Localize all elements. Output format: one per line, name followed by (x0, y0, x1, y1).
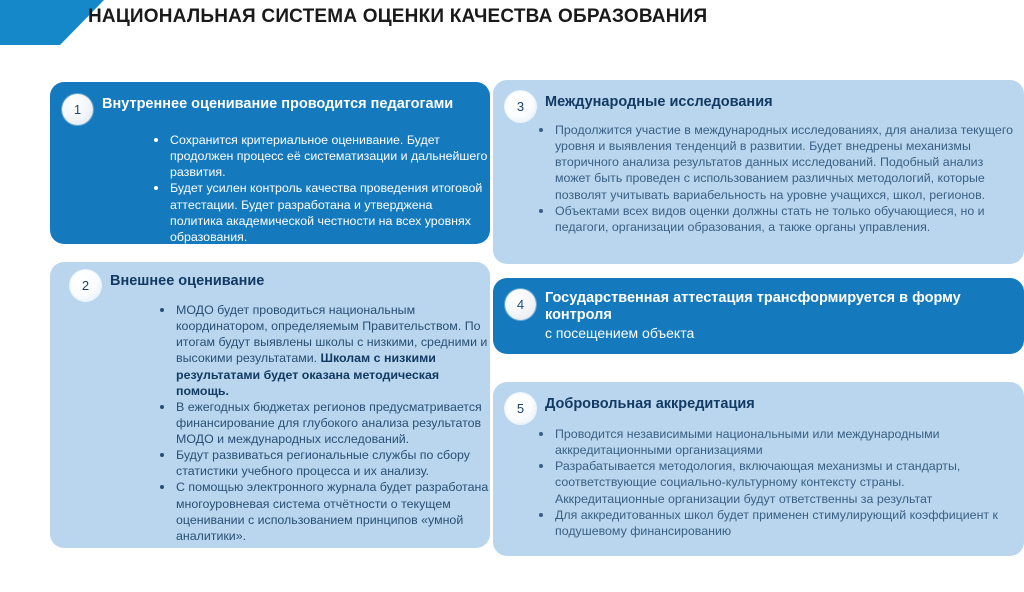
card-voluntary-accreditation[interactable]: 5 Добровольная аккредитация Проводится н… (493, 382, 1024, 556)
card-external-assessment[interactable]: 2 Внешнее оценивание МОДО будет проводит… (50, 262, 490, 548)
card-bullet-list: МОДО будет проводиться национальным коор… (154, 302, 490, 544)
card-number-badge: 4 (505, 289, 536, 320)
list-item: Объектами всех видов оценки должны стать… (533, 203, 1013, 235)
card-bullet-list: Продолжится участие в международных иссл… (533, 122, 1013, 235)
card-subtitle: с посещением объекта (545, 325, 1015, 342)
card-number-badge: 3 (505, 91, 536, 122)
list-item: Разрабатывается методология, включающая … (533, 458, 1013, 506)
card-title: Добровольная аккредитация (545, 396, 975, 413)
list-item: Сохранится критериальное оценивание. Буд… (148, 132, 488, 180)
card-title: Международные исследования (545, 94, 975, 111)
list-item: Продолжится участие в международных иссл… (533, 122, 1013, 203)
list-item: С помощью электронного журнала будет раз… (154, 479, 490, 544)
list-item: Будут развиваться региональные службы по… (154, 447, 490, 479)
card-number-badge: 2 (70, 270, 101, 301)
card-number-badge: 1 (62, 94, 93, 125)
card-bullet-list: Сохранится критериальное оценивание. Буд… (148, 132, 488, 245)
list-item: Проводится независимыми национальными ил… (533, 426, 1013, 458)
card-title: Внутреннее оценивание проводится педагог… (102, 96, 472, 113)
card-title: Внешнее оценивание (110, 273, 470, 290)
card-state-attestation[interactable]: 4 Государственная аттестация трансформир… (493, 278, 1024, 354)
list-item: МОДО будет проводиться национальным коор… (154, 302, 490, 399)
card-international-research[interactable]: 3 Международные исследования Продолжится… (493, 80, 1024, 264)
list-item: Для аккредитованных школ будет применен … (533, 507, 1013, 539)
card-number-badge: 5 (505, 393, 536, 424)
page-title: НАЦИОНАЛЬНАЯ СИСТЕМА ОЦЕНКИ КАЧЕСТВА ОБР… (88, 6, 707, 28)
list-item: В ежегодных бюджетах регионов предусматр… (154, 399, 490, 447)
card-bullet-list: Проводится независимыми национальными ил… (533, 426, 1013, 539)
card-internal-assessment[interactable]: 1 Внутреннее оценивание проводится педаг… (50, 82, 490, 244)
page-header: НАЦИОНАЛЬНАЯ СИСТЕМА ОЦЕНКИ КАЧЕСТВА ОБР… (0, 0, 1024, 50)
card-title: Государственная аттестация трансформируе… (545, 290, 1015, 324)
list-item: Будет усилен контроль качества проведени… (148, 180, 488, 245)
